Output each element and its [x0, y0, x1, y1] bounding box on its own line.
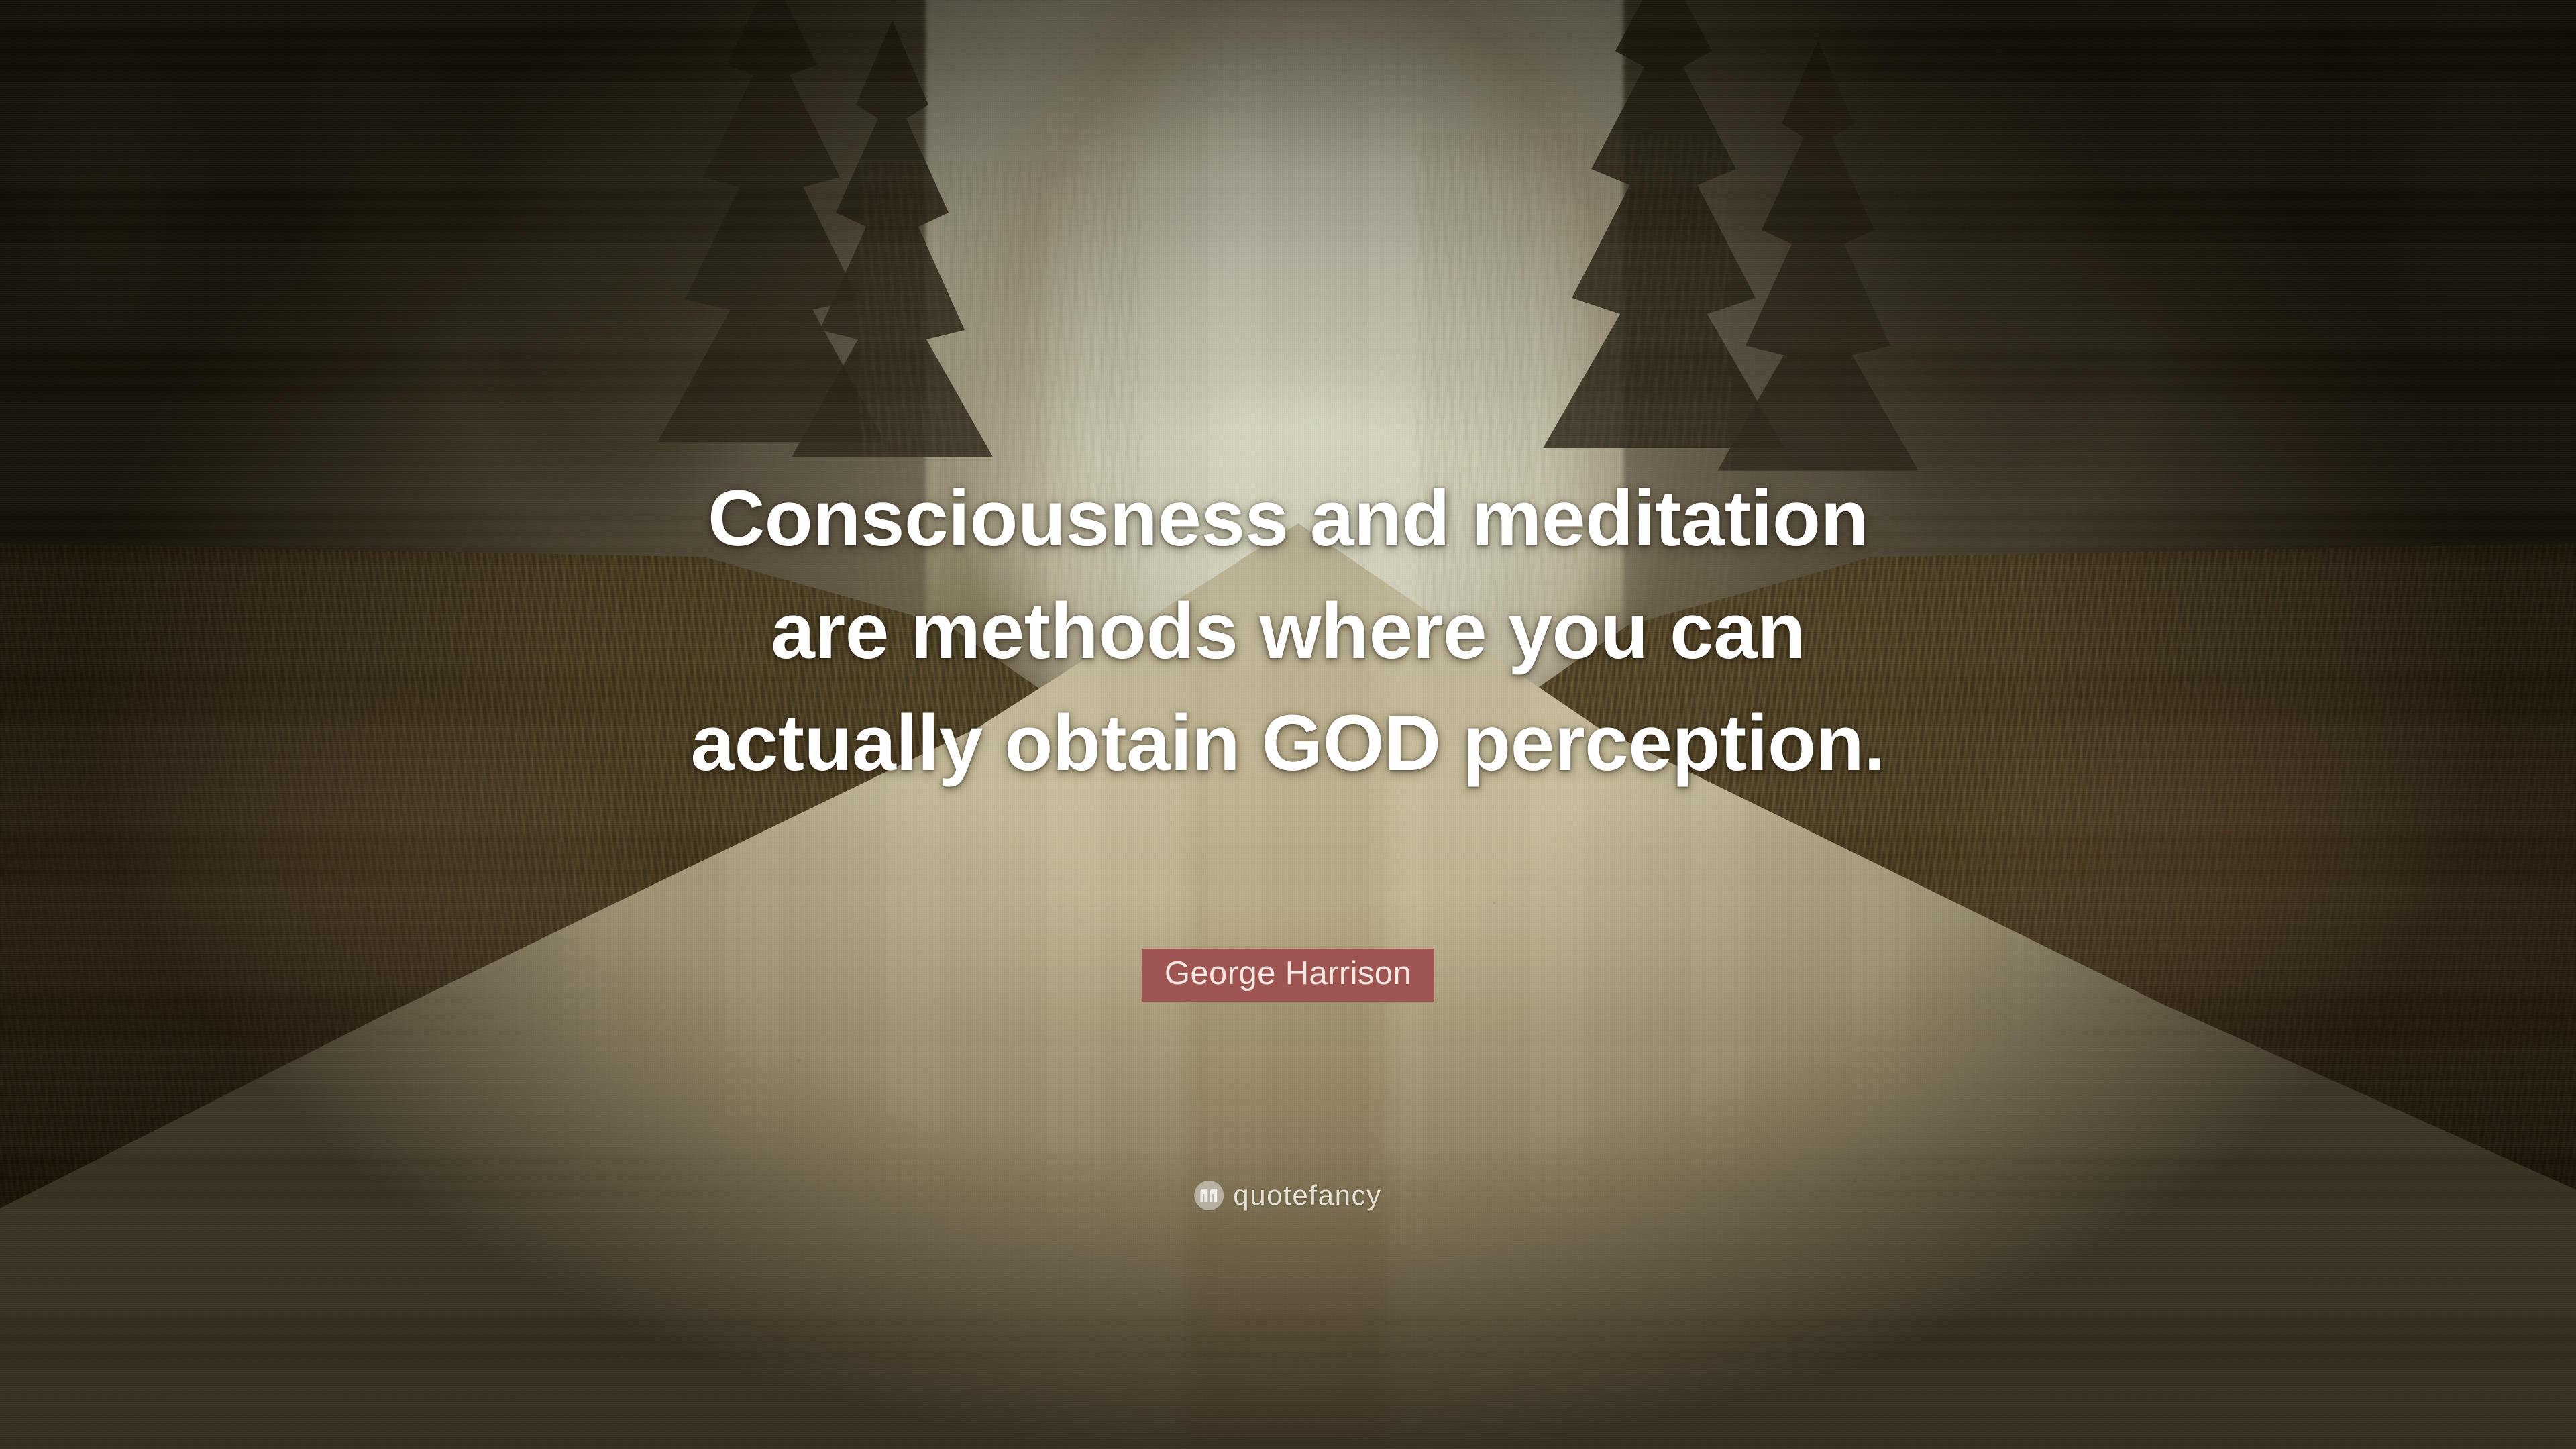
quotefancy-watermark[interactable]: quotefancy [1194, 1181, 1382, 1210]
quotefancy-brand-label: quotefancy [1233, 1181, 1382, 1210]
text-overlay: Consciousness and meditation are methods… [0, 0, 2576, 1449]
author-attribution-badge: George Harrison [1142, 949, 1434, 1002]
quote-text: Consciousness and meditation are methods… [449, 463, 2127, 800]
quote-line-3: actually obtain GOD perception. [449, 688, 2127, 800]
quote-line-2: are methods where you can [449, 576, 2127, 688]
double-quote-icon [1194, 1181, 1224, 1210]
quote-line-1: Consciousness and meditation [449, 463, 2127, 576]
quote-wallpaper: Consciousness and meditation are methods… [0, 0, 2576, 1449]
